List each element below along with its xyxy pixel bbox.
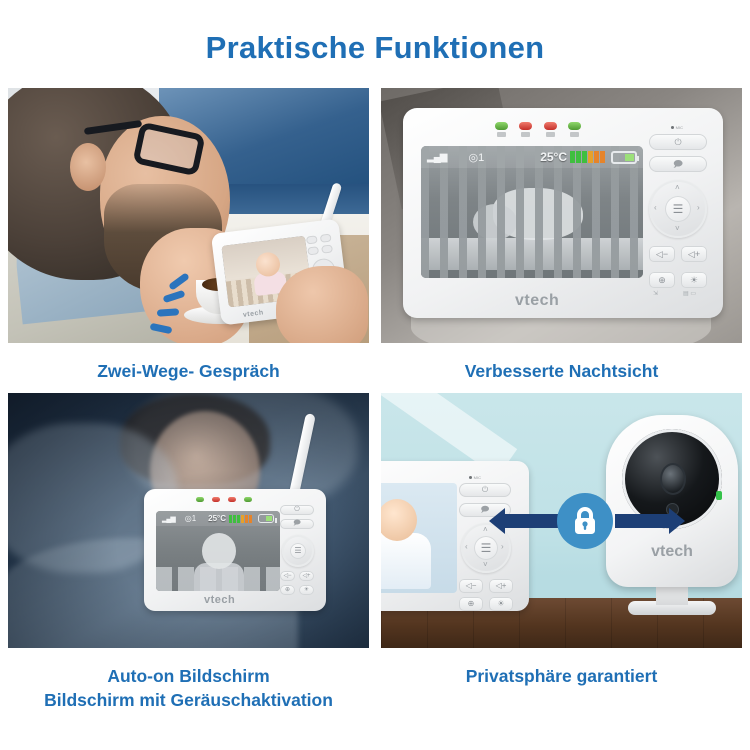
nav-dpad[interactable]: ☰ [282, 535, 314, 567]
monitor-button-panel[interactable]: ⏻ 🗩 ˄ ˅ ‹ › ☰ ◁− ◁+ ⊕ ☀ [457, 483, 521, 605]
temperature-readout: 25°C [540, 150, 567, 164]
volume-up-button[interactable]: ◁+ [299, 571, 314, 581]
arrow-left-icon [489, 508, 559, 534]
caption-line-1: Auto-on Bildschirm [107, 666, 269, 686]
volume-level-bars [229, 515, 252, 523]
volume-down-button[interactable]: ◁− [459, 579, 483, 593]
caption-privacy: Privatsphäre garantiert [381, 648, 742, 688]
link-led-icon [495, 122, 508, 130]
caption-line-1: Verbesserte Nachtsicht [465, 361, 659, 381]
monitor-button-panel[interactable]: ⏻ 🗩 ☰ ◁− ◁+ ⊕ ☀ [280, 505, 320, 601]
vtech-logo: vtech [204, 594, 235, 606]
monitor-button-panel[interactable]: ⏻ 🗩 ˄ ˅ ‹ › ☰ ◁− ◁+ ⊕ ☀ ⇲ ▤ ▭ [647, 134, 713, 302]
baby-monitor-device: ▂▄▆ ◎1 25°C ⏻ 🗩 ☰ [144, 489, 326, 611]
menu-button[interactable]: ☰ [290, 543, 306, 559]
chevron-up-icon[interactable]: ˄ [675, 183, 680, 192]
zoom-button[interactable]: ⊕ [649, 272, 675, 288]
monitor-screen [381, 483, 457, 593]
alert-led-icon [544, 122, 557, 130]
link-led-icon [196, 497, 204, 502]
volume-down-button[interactable] [307, 246, 319, 255]
chevron-down-icon[interactable]: ˅ [675, 224, 680, 233]
chevron-left-icon[interactable]: ‹ [465, 542, 468, 551]
man-hand-left [276, 266, 368, 343]
battery-icon [258, 514, 274, 523]
camera-channel-label: ◎1 [185, 514, 196, 523]
chevron-down-icon[interactable]: ˅ [483, 560, 488, 569]
screen-status-bar: ▂▄▆ ◎1 25°C [156, 511, 280, 526]
volume-up-button[interactable] [321, 244, 333, 253]
battery-icon [611, 151, 637, 164]
volume-down-button[interactable]: ◁− [280, 571, 295, 581]
chevron-left-icon[interactable]: ‹ [654, 203, 657, 212]
vtech-logo: vtech [606, 543, 738, 561]
temperature-readout: 25°C [208, 514, 226, 523]
caption-auto-on-screen: Auto-on Bildschirm Bildschirm mit Geräus… [8, 648, 369, 712]
signal-bars-icon: ▂▄▆ [162, 515, 175, 523]
chevron-up-icon[interactable]: ˄ [483, 525, 488, 534]
battery-led-icon [519, 122, 532, 130]
menu-button[interactable]: ☰ [665, 196, 691, 222]
camera-optic [660, 463, 686, 495]
screen-scene [381, 483, 457, 593]
battery-led-icon [212, 497, 220, 502]
caption-line-2: Bildschirm mit Geräuschaktivation [8, 688, 369, 712]
caption-two-way-talk: Zwei-Wege- Gespräch [8, 343, 369, 383]
power-led-icon [244, 497, 252, 502]
monitor-screen: ▂▄▆ ◎1 25°C [156, 511, 280, 591]
nav-dpad[interactable]: ˄ ˅ ‹ › ☰ [649, 180, 707, 238]
input-icon: ⇲ [653, 290, 658, 297]
photo-privacy: MIC ⏻ [381, 393, 742, 648]
camera-status-led [716, 491, 722, 500]
feature-card-night-vision: MIC ▂▄▆ ◎1 25°C [381, 88, 742, 383]
caption-night-vision: Verbesserte Nachtsicht [381, 343, 742, 383]
display-icon: ▤ ▭ [683, 290, 696, 297]
chevron-right-icon[interactable]: › [501, 542, 504, 551]
lock-icon [557, 493, 613, 549]
talk-button[interactable]: 🗩 [280, 519, 314, 529]
led-indicator-row [196, 497, 252, 507]
caption-line-1: Zwei-Wege- Gespräch [97, 361, 280, 381]
photo-night-vision: MIC ▂▄▆ ◎1 25°C [381, 88, 742, 343]
power-button[interactable] [306, 235, 318, 244]
volume-up-button[interactable]: ◁+ [681, 246, 707, 262]
power-button[interactable]: ⏻ [649, 134, 707, 150]
monitor-screen: ▂▄▆ ◎1 25°C [421, 146, 643, 278]
power-button[interactable]: ⏻ [280, 505, 314, 515]
baby-monitor-device: MIC ▂▄▆ ◎1 25°C [403, 108, 723, 318]
mic-label: MIC [671, 125, 683, 130]
brightness-button[interactable]: ☀ [681, 272, 707, 288]
camera-body: vtech [606, 415, 738, 587]
page-title: Praktische Funktionen [0, 30, 750, 66]
volume-level-bars [570, 151, 605, 163]
brightness-button[interactable]: ☀ [299, 585, 314, 595]
screen-status-bar: ▂▄▆ ◎1 25°C [421, 146, 643, 168]
feature-card-privacy: MIC ⏻ [381, 393, 742, 688]
caption-line-1: Privatsphäre garantiert [466, 666, 658, 686]
power-led-icon [568, 122, 581, 130]
brightness-button[interactable]: ☀ [489, 597, 513, 611]
menu-button[interactable]: ☰ [474, 536, 498, 560]
zoom-button[interactable]: ⊕ [280, 585, 295, 595]
volume-up-button[interactable]: ◁+ [489, 579, 513, 593]
vtech-logo: vtech [243, 309, 264, 318]
zoom-button[interactable]: ⊕ [459, 597, 483, 611]
feature-card-auto-on-screen: ▂▄▆ ◎1 25°C ⏻ 🗩 ☰ [8, 393, 369, 712]
talk-button[interactable]: 🗩 [649, 156, 707, 172]
power-button[interactable]: ⏻ [459, 483, 511, 497]
signal-bars-icon: ▂▄▆ [427, 152, 446, 163]
chevron-right-icon[interactable]: › [697, 203, 700, 212]
feature-grid: vtech Zwei-Wege- Gespräch MIC [8, 88, 742, 708]
feature-card-two-way-talk: vtech Zwei-Wege- Gespräch [8, 88, 369, 383]
baby-head [202, 533, 236, 569]
photo-two-way-talk: vtech [8, 88, 369, 343]
talk-button[interactable] [320, 234, 332, 243]
alert-led-icon [228, 497, 236, 502]
camera-channel-label: ◎1 [468, 151, 484, 164]
led-indicator-row [495, 122, 581, 138]
arrow-right-icon [615, 508, 685, 534]
photo-auto-on-screen: ▂▄▆ ◎1 25°C ⏻ 🗩 ☰ [8, 393, 369, 648]
vtech-logo: vtech [515, 292, 559, 310]
baby-monitor-device: MIC ⏻ [381, 461, 529, 611]
baby-body [381, 533, 431, 589]
man-ear [70, 143, 106, 191]
volume-down-button[interactable]: ◁− [649, 246, 675, 262]
mic-label: MIC [469, 475, 481, 480]
